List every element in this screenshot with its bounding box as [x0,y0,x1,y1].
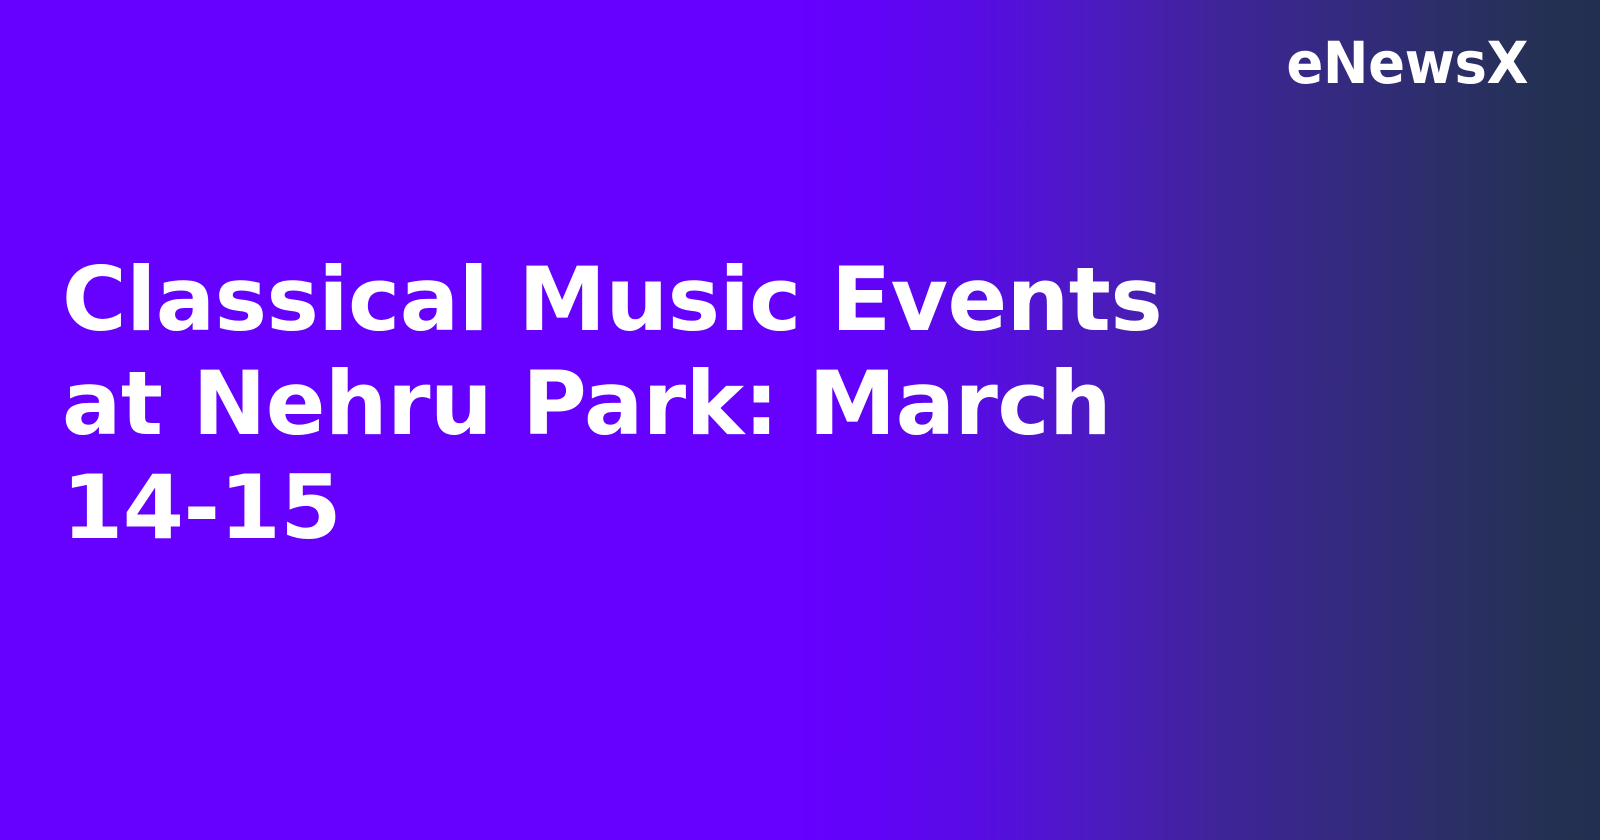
masthead: eNewsX [0,0,1528,126]
card-body-area [0,470,1600,840]
news-headline-card: eNewsX Classical Music Events at Nehru P… [0,0,1600,840]
enewsx-logo[interactable]: eNewsX [1286,34,1528,92]
